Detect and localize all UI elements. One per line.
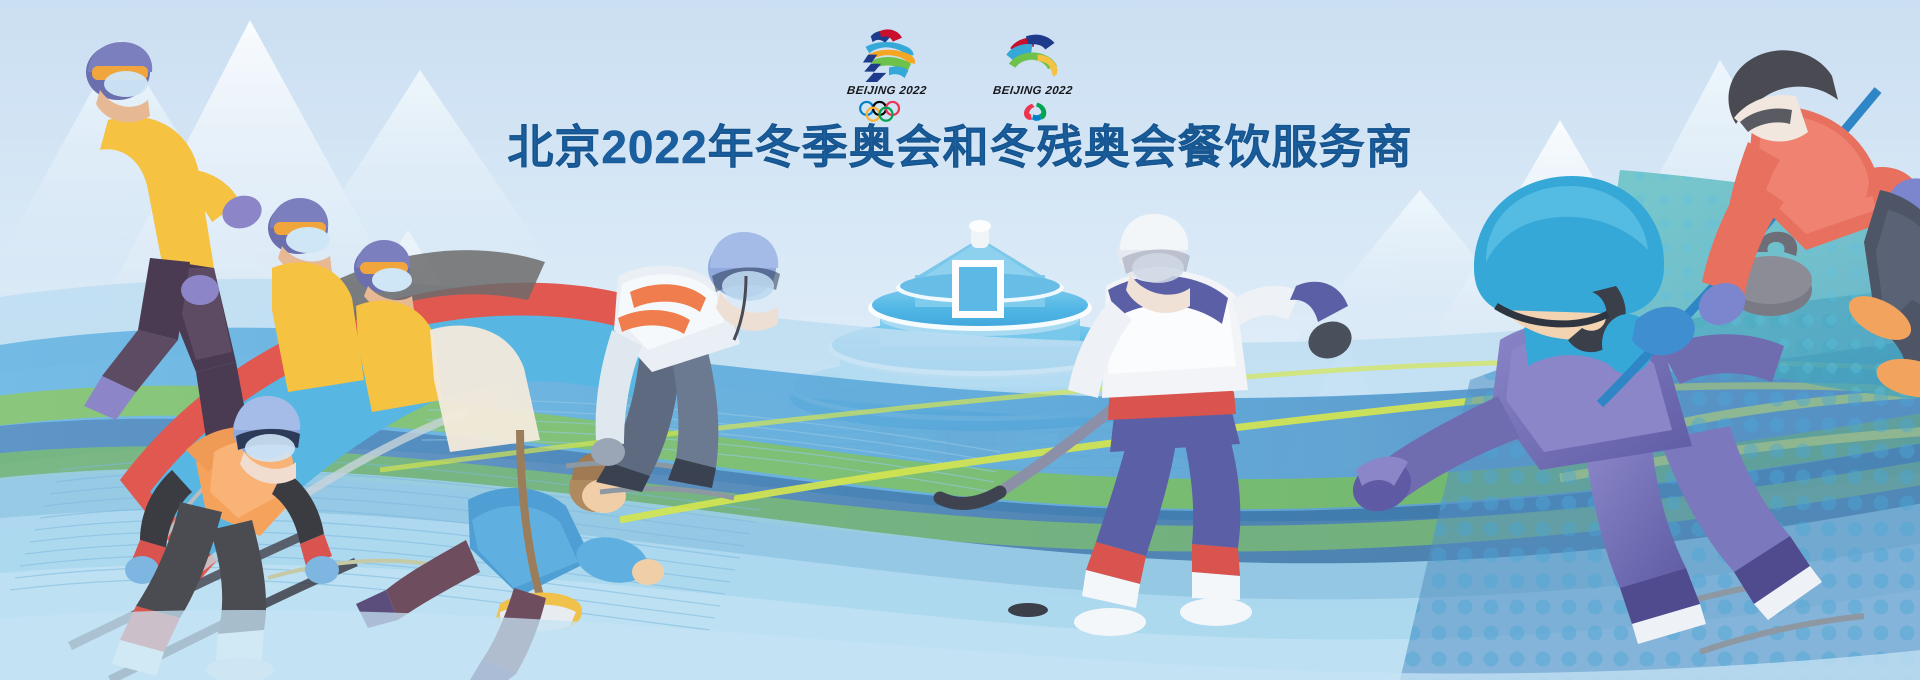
- olympic-rings-icon: [855, 100, 920, 122]
- winter-dream-emblem-icon: [850, 26, 924, 82]
- olympic-banner: BEIJING 2022 BEIJING 2022: [0, 0, 1920, 680]
- paralympic-wordmark: BEIJING 2022: [993, 85, 1074, 97]
- scene-illustration: [0, 0, 1920, 680]
- leap-emblem-icon: [996, 26, 1070, 82]
- beijing-2022-olympic-emblem[interactable]: BEIJING 2022: [835, 26, 939, 122]
- beijing-2022-paralympic-emblem[interactable]: BEIJING 2022: [981, 26, 1085, 122]
- agitos-icon: [1001, 100, 1066, 122]
- page-title: 北京2022年冬季奥会和冬残奥会餐饮服务商: [0, 124, 1920, 170]
- olympic-wordmark: BEIJING 2022: [847, 85, 928, 97]
